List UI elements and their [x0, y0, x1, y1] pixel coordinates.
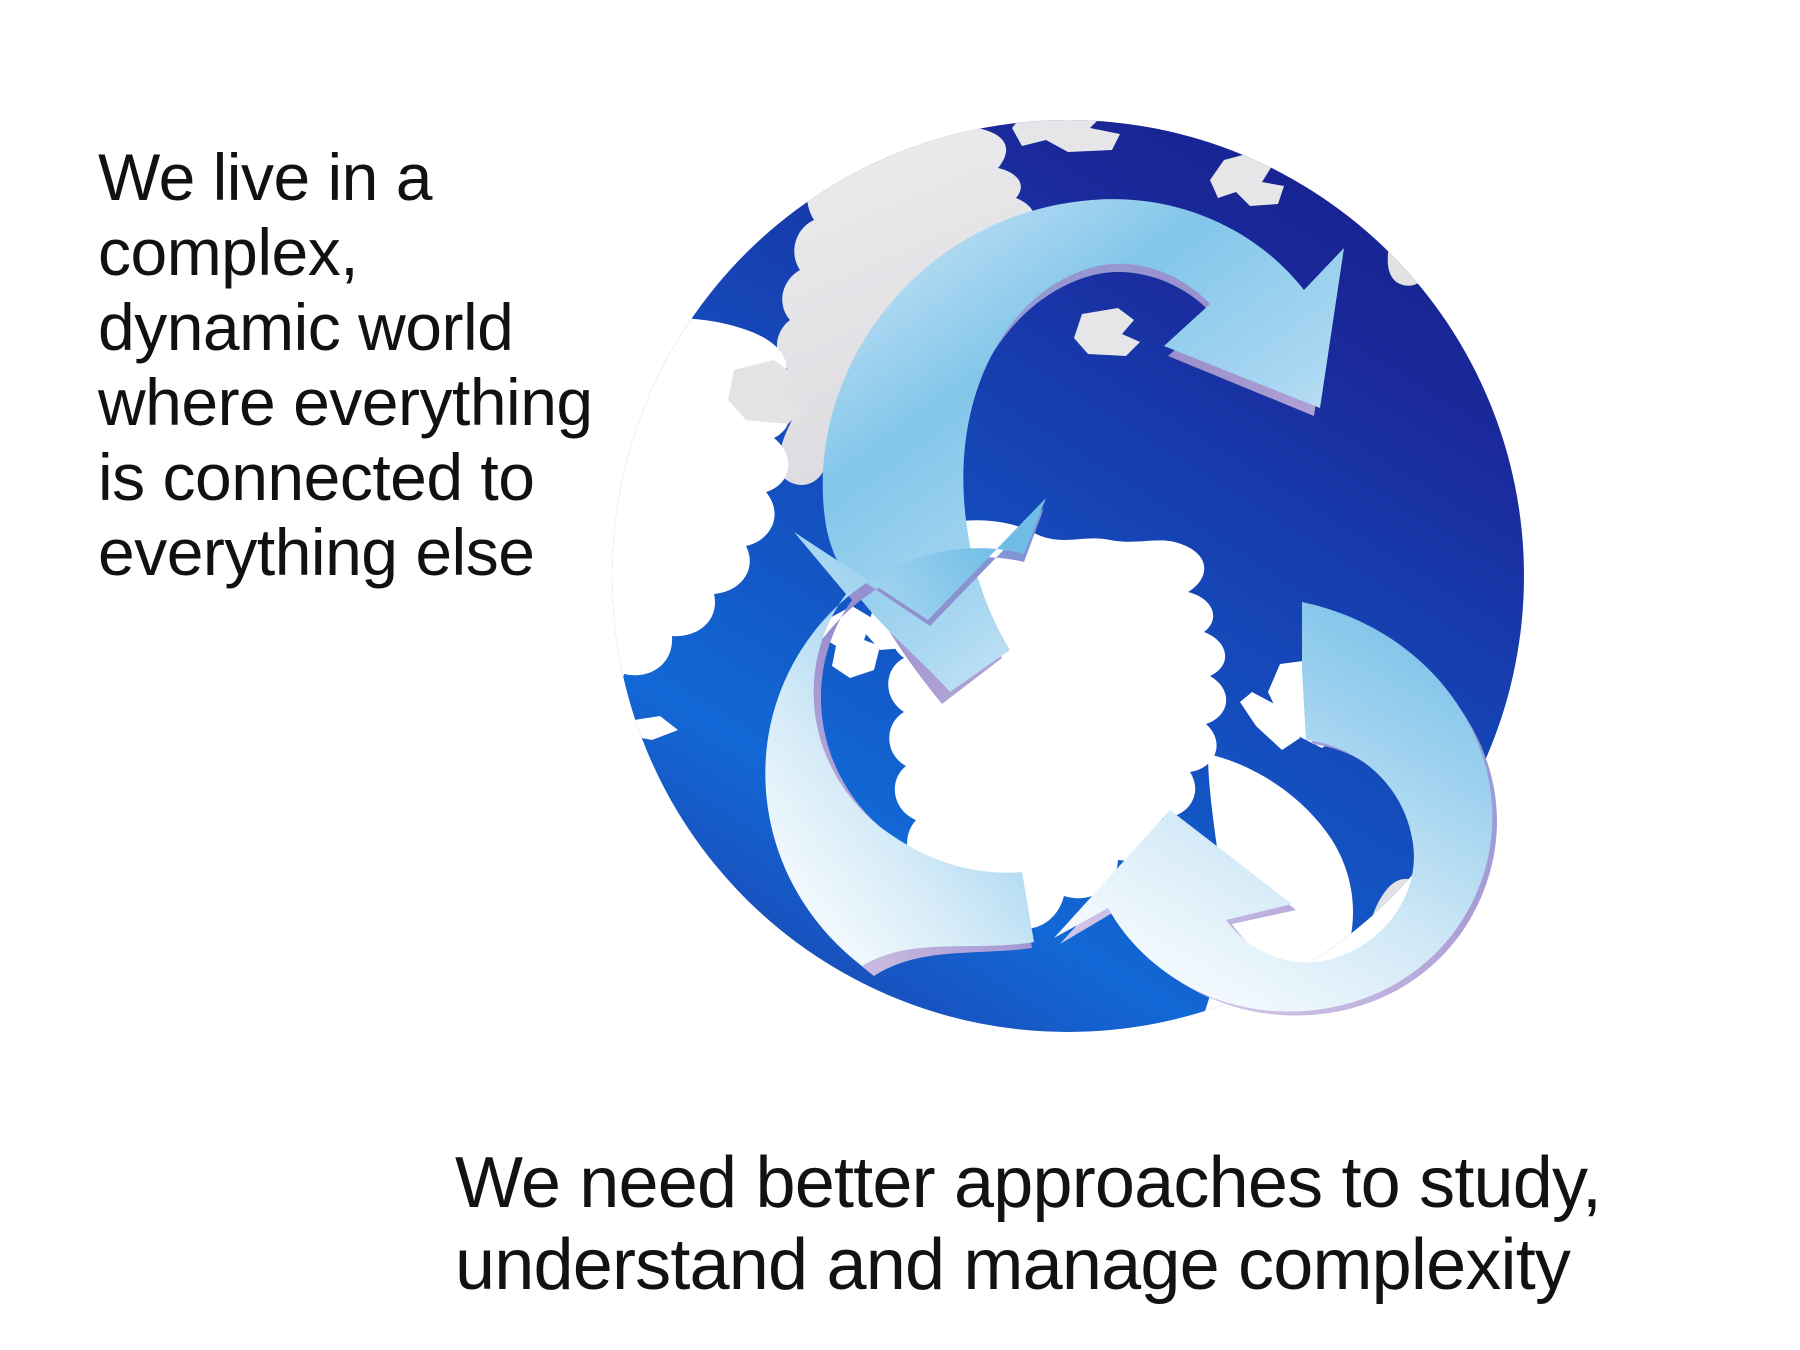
slide-canvas: We live in a complex, dynamic world wher… [0, 0, 1800, 1350]
headline-bottom: We need better approaches to study, unde… [455, 1142, 1785, 1306]
headline-left: We live in a complex, dynamic world wher… [98, 140, 618, 589]
globe-graphic [612, 64, 1524, 1088]
south-america-tip [542, 764, 665, 1026]
novaya-zemlya-ice [1386, 206, 1437, 285]
